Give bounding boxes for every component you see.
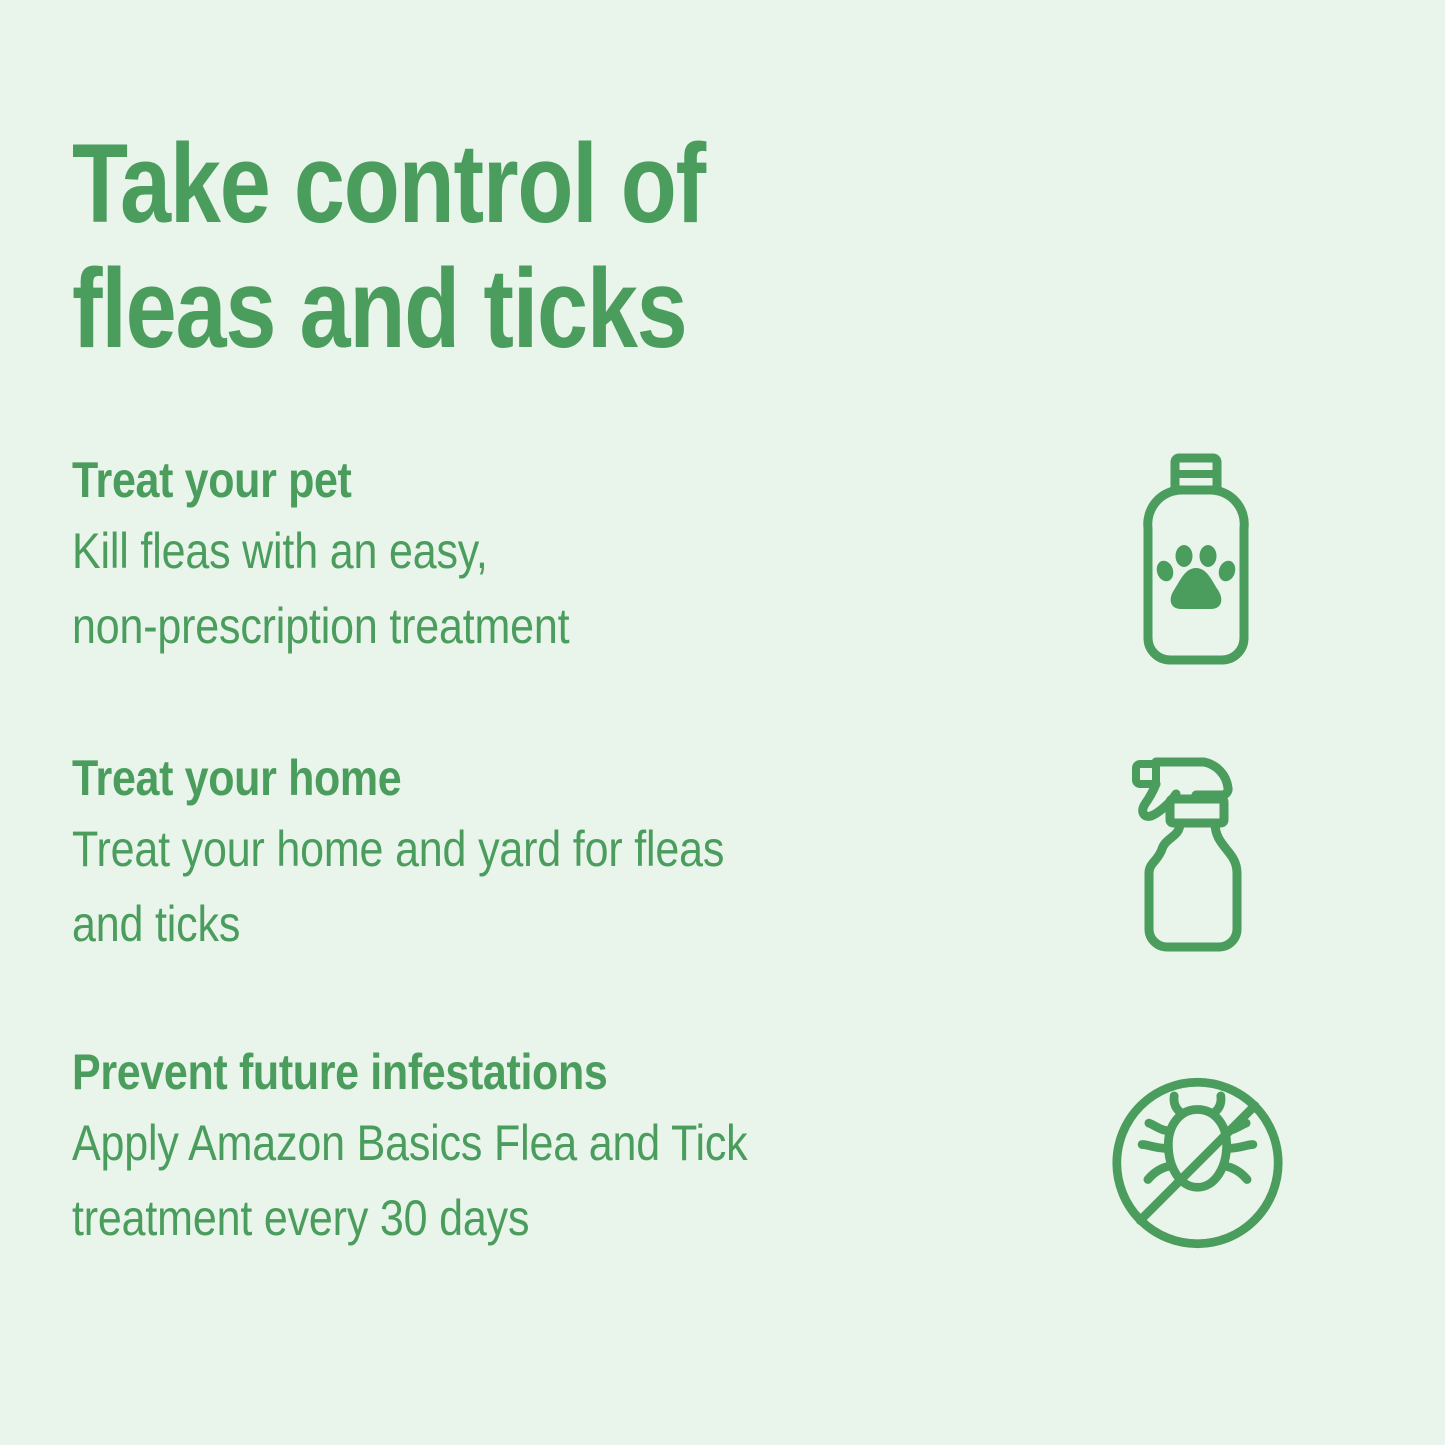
flea-tick-info-panel: Take control of fleas and ticks Treat yo…: [0, 0, 1445, 1445]
paw-print: [1154, 545, 1238, 609]
feature-body: Apply Amazon Basics Flea and Tick treatm…: [72, 1106, 932, 1256]
feature-body: Kill fleas with an easy, non-prescriptio…: [72, 514, 932, 664]
no-bug-icon-svg: [1110, 1068, 1285, 1258]
bottle-paw-icon: [1126, 452, 1266, 672]
spray-bottle-icon-svg: [1126, 752, 1266, 972]
spray-bottle-icon: [1126, 752, 1266, 972]
feature-row-treat-your-pet: Treat your pet Kill fleas with an easy, …: [72, 452, 1072, 664]
feature-body: Treat your home and yard for fleas and t…: [72, 812, 932, 962]
page-title: Take control of fleas and ticks: [72, 121, 810, 372]
feature-title: Prevent future infestations: [72, 1044, 932, 1100]
bottle-paw-icon-svg: [1126, 452, 1266, 672]
feature-row-treat-your-home: Treat your home Treat your home and yard…: [72, 750, 1072, 962]
feature-title: Treat your pet: [72, 452, 932, 508]
no-bug-icon: [1110, 1068, 1285, 1258]
feature-row-prevent-future-infestations: Prevent future infestations Apply Amazon…: [72, 1044, 1072, 1256]
feature-title: Treat your home: [72, 750, 932, 806]
